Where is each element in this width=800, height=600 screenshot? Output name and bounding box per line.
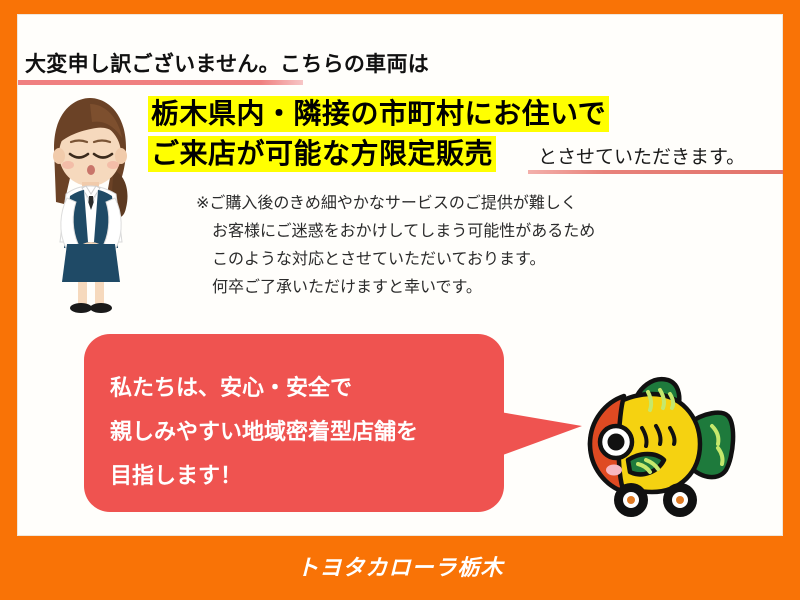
header-divider-rule — [18, 80, 303, 85]
explanatory-note-block: ※ご購入後のきめ細やかなサービスのご提供が難しく お客様にご迷惑をおかけしてしま… — [196, 190, 595, 302]
note-line: このような対応とさせていただいております。 — [196, 246, 595, 274]
main-statement-tail: とさせていただきます。 — [538, 142, 745, 169]
poster-root: 大変申し訳ございません。こちらの車両は — [0, 0, 800, 600]
header-apology-text: 大変申し訳ございません。こちらの車両は — [25, 48, 429, 78]
bubble-line: 私たちは、安心・安全で — [110, 366, 510, 410]
main-statement-divider-rule — [528, 170, 783, 174]
footer-band: トヨタカローラ栃木 — [0, 536, 800, 600]
main-statement-line-1: 栃木県内・隣接の市町村にお住いで — [148, 96, 609, 132]
note-line: お客様にご迷惑をおかけしてしまう可能性があるため — [196, 218, 595, 246]
speech-bubble-text: 私たちは、安心・安全で 親しみやすい地域密着型店舗を 目指します！ — [110, 366, 510, 498]
bubble-line: 親しみやすい地域密着型店舗を — [110, 410, 510, 454]
speech-bubble-tail — [500, 412, 582, 456]
bowing-businesswoman-icon — [34, 92, 146, 319]
fish-on-wheels-mascot-icon — [576, 372, 746, 525]
main-statement-line-2: ご来店が可能な方限定販売 — [148, 136, 496, 172]
note-line: ※ご購入後のきめ細やかなサービスのご提供が難しく — [196, 190, 595, 218]
dealer-logo-text: トヨタカローラ栃木 — [0, 536, 800, 600]
note-line: 何卒ご了承いただけますと幸いです。 — [196, 274, 595, 302]
bubble-line: 目指します！ — [110, 454, 510, 498]
